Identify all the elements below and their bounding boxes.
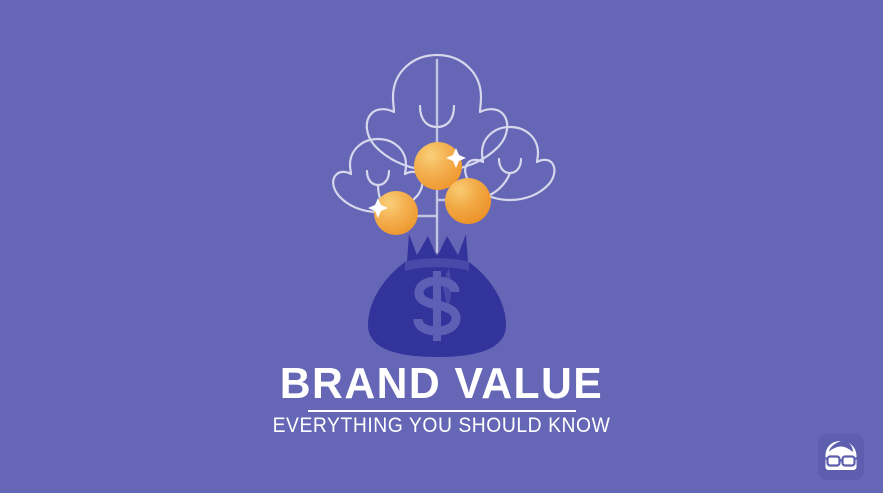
leaf-right-vein <box>499 159 521 173</box>
brand-logo[interactable] <box>818 434 864 480</box>
coin-lower-left <box>368 191 418 235</box>
coin-right <box>445 178 491 224</box>
leaf-left-vein <box>367 171 389 185</box>
poster-canvas: BRAND VALUE EVERYTHING YOU SHOULD KNOW <box>0 0 883 493</box>
illustration-artwork <box>0 0 883 493</box>
face-with-glasses-icon <box>818 434 864 480</box>
